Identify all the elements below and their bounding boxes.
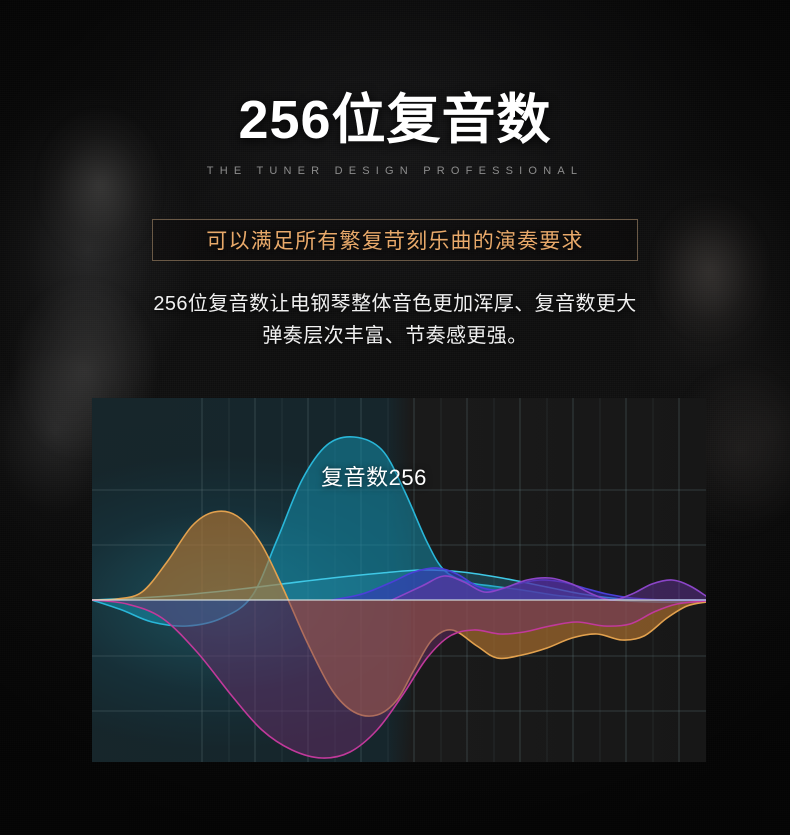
page-title: 256位复音数 — [0, 92, 790, 149]
hero-block: 256位复音数 THE TUNER DESIGN PROFESSIONAL — [0, 0, 790, 177]
series-fill-magenta-valley — [92, 600, 706, 758]
waveform-panel: 复音数256 — [92, 398, 706, 762]
slogan-box: 可以满足所有繁复苛刻乐曲的演奏要求 — [152, 219, 638, 261]
description-line-2: 弹奏层次丰富、节奏感更强。 — [0, 320, 790, 352]
slogan-text: 可以满足所有繁复苛刻乐曲的演奏要求 — [206, 225, 583, 255]
description-paragraph: 256位复音数让电钢琴整体音色更加浑厚、复音数更大 弹奏层次丰富、节奏感更强。 — [0, 288, 790, 352]
series-fill-purple-tail — [392, 576, 706, 600]
page-root: 256位复音数 THE TUNER DESIGN PROFESSIONAL 可以… — [0, 0, 790, 835]
chart-series-group — [92, 437, 706, 758]
page-subtitle: THE TUNER DESIGN PROFESSIONAL — [0, 165, 790, 177]
waveform-chart — [92, 398, 706, 762]
description-line-1: 256位复音数让电钢琴整体音色更加浑厚、复音数更大 — [0, 288, 790, 320]
